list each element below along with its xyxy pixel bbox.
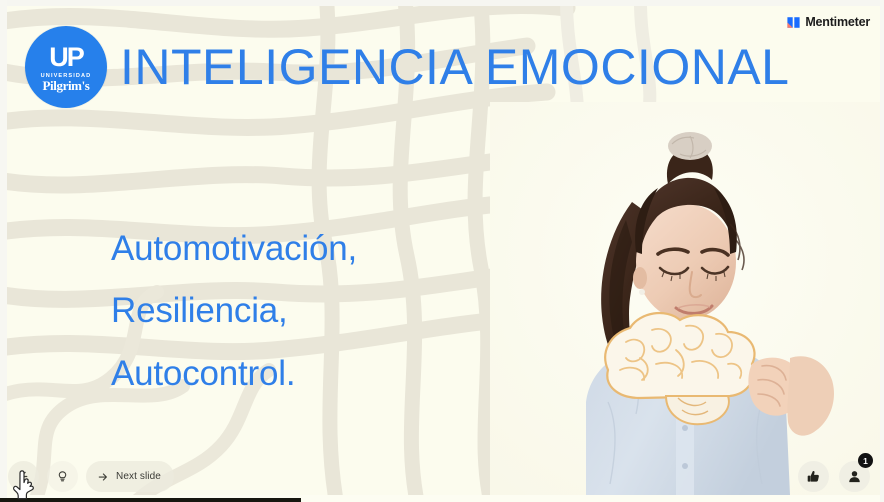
body-line: Autocontrol.	[111, 343, 357, 405]
logo-line2: Pilgrim's	[43, 79, 90, 93]
mentimeter-wordmark: Mentimeter	[805, 15, 870, 29]
progress-bar-fill	[0, 498, 301, 502]
arrow-left-icon	[17, 470, 30, 483]
window-frame-left	[0, 0, 7, 502]
next-slide-button[interactable]: Next slide	[86, 461, 174, 492]
hint-button[interactable]	[47, 461, 78, 492]
slide-title: INTELIGENCIA EMOCIONAL	[120, 42, 789, 92]
body-line: Automotivación,	[111, 218, 357, 280]
slide-navigation-controls: Next slide	[8, 461, 174, 492]
presentation-slide-view: UP UNIVERSIDAD Pilgrim's INTELIGENCIA EM…	[0, 0, 884, 502]
participants-button[interactable]: 1	[839, 461, 870, 492]
next-slide-label: Next slide	[116, 471, 161, 482]
university-logo: UP UNIVERSIDAD Pilgrim's	[25, 26, 107, 108]
window-frame-right	[880, 0, 884, 502]
person-icon	[847, 469, 862, 484]
mentimeter-brand: Mentimeter	[787, 15, 870, 29]
reactions-button[interactable]	[798, 461, 829, 492]
body-line: Resiliencia,	[111, 280, 357, 342]
slide-body-text: Automotivación, Resiliencia, Autocontrol…	[111, 218, 357, 405]
window-frame-top	[0, 0, 884, 6]
arrow-right-icon	[97, 471, 109, 483]
audience-controls: 1	[798, 461, 870, 492]
mentimeter-logo-icon	[787, 16, 800, 29]
back-button[interactable]	[8, 461, 39, 492]
lightbulb-icon	[56, 470, 69, 483]
thumbs-up-icon	[806, 469, 821, 484]
slide-photo-woman-with-brain	[490, 102, 880, 495]
slide-stage: UP UNIVERSIDAD Pilgrim's INTELIGENCIA EM…	[7, 6, 880, 495]
logo-monogram: UP	[49, 44, 83, 71]
presentation-progress-bar	[0, 498, 884, 502]
participants-count-badge: 1	[858, 453, 873, 468]
